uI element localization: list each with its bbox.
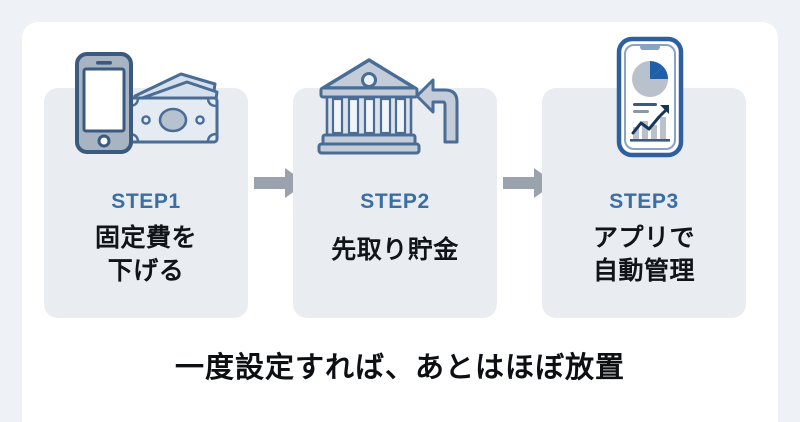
- step-card-2[interactable]: STEP2 先取り貯金: [293, 88, 497, 318]
- step-label-2: STEP2: [293, 190, 497, 214]
- caption-text: 一度設定すれば、あとはほぼ放置: [22, 344, 778, 386]
- steps-row: STEP1 固定費を 下げる: [22, 88, 778, 320]
- smartphone-and-banknotes-icon: [44, 42, 248, 178]
- infographic-root: STEP1 固定費を 下げる: [0, 0, 800, 422]
- step-label-3: STEP3: [542, 190, 746, 214]
- step-title-3: アプリで 自動管理: [542, 222, 746, 288]
- step-title-2: 先取り貯金: [293, 234, 497, 267]
- step-title-2-line-1: 先取り貯金: [293, 234, 497, 267]
- step-title-1-line-1: 固定費を: [44, 222, 248, 255]
- step-label-1: STEP1: [44, 190, 248, 214]
- step-title-3-line-1: アプリで: [542, 222, 746, 255]
- step-card-3[interactable]: STEP3 アプリで 自動管理: [542, 88, 746, 318]
- smartphone-analytics-icon: [542, 30, 746, 166]
- step-title-1: 固定費を 下げる: [44, 222, 248, 288]
- step-title-1-line-2: 下げる: [44, 255, 248, 288]
- step-title-3-line-2: 自動管理: [542, 255, 746, 288]
- step-card-1[interactable]: STEP1 固定費を 下げる: [44, 88, 248, 318]
- bank-with-return-arrow-icon: [293, 42, 497, 178]
